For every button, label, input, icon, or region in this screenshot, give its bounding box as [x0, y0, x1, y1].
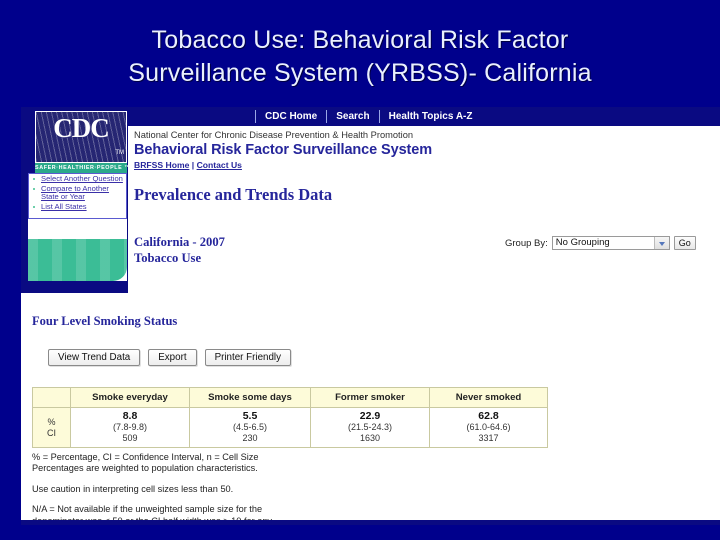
column-header-smoke-everyday: Smoke everyday	[71, 388, 190, 408]
go-button[interactable]: Go	[674, 236, 696, 250]
group-by-label: Group By:	[505, 238, 548, 249]
cell-percent: 5.5	[190, 411, 310, 422]
sidebar-item-select-another-question[interactable]: Select Another Question	[32, 175, 126, 184]
cdc-top-navbar-items: CDC Home Search Health Topics A-Z	[255, 107, 482, 126]
nav-item-cdc-home[interactable]: CDC Home	[255, 110, 326, 123]
bullet-icon	[32, 177, 36, 181]
green-band-stripes	[28, 239, 127, 281]
cdc-tagline-bar: SAFER·HEALTHIER·PEOPLE ™	[35, 163, 127, 173]
cell-sample-size: 230	[190, 433, 310, 444]
slide-title-line-2: Surveillance System (YRBSS)- California	[0, 57, 720, 90]
table-corner-cell	[33, 388, 71, 408]
cell-sample-size: 3317	[430, 433, 547, 444]
sidebar-blue-backing-right	[127, 126, 128, 293]
cell-never-smoked: 62.8 (61.0-64.6) 3317	[430, 408, 548, 448]
table-row: % CI 8.8 (7.8-9.8) 509 5.5 (4.5-6.5) 230	[33, 408, 548, 448]
page-header: National Center for Chronic Disease Prev…	[134, 129, 432, 172]
slide-title-line-1: Tobacco Use: Behavioral Risk Factor	[0, 24, 720, 57]
action-button-row: View Trend Data Export Printer Friendly	[48, 349, 291, 366]
footnote-line-3: Use caution in interpreting cell sizes l…	[32, 484, 233, 494]
trademark-icon: TM	[115, 150, 124, 156]
cell-smoke-some-days: 5.5 (4.5-6.5) 230	[190, 408, 311, 448]
footnote-line-1: % = Percentage, CI = Confidence Interval…	[32, 452, 259, 462]
cdc-logo-wordmark: CDC	[36, 113, 126, 144]
group-by-control: Group By: No Grouping Go	[505, 236, 696, 250]
header-links: BRFSS Home | Contact Us	[134, 159, 432, 172]
cell-sample-size: 509	[71, 433, 189, 444]
sidebar-item-list-all-states[interactable]: List All States	[32, 203, 126, 212]
nav-item-search[interactable]: Search	[326, 110, 378, 123]
state-year-label: California - 2007	[134, 234, 225, 250]
export-button[interactable]: Export	[148, 349, 196, 366]
group-by-selected-value: No Grouping	[556, 237, 610, 248]
footnote-line-2: Percentages are weighted to population c…	[32, 463, 258, 473]
agency-name: National Center for Chronic Disease Prev…	[134, 129, 432, 141]
topic-label: Tobacco Use	[134, 250, 225, 266]
cell-confidence-interval: (21.5-24.3)	[311, 422, 429, 433]
row-header-ci-symbol: CI	[33, 428, 70, 439]
column-header-never-smoked: Never smoked	[430, 388, 548, 408]
sidebar-item-label: List All States	[41, 203, 126, 212]
slide-canvas: Tobacco Use: Behavioral Risk Factor Surv…	[0, 0, 720, 540]
cell-former-smoker: 22.9 (21.5-24.3) 1630	[311, 408, 430, 448]
bullet-icon	[32, 187, 36, 191]
cell-confidence-interval: (4.5-6.5)	[190, 422, 310, 433]
sidebar-blue-backing-left	[21, 173, 28, 293]
cell-percent: 8.8	[71, 411, 189, 422]
cell-percent: 62.8	[430, 411, 547, 422]
footnote-line-4: N/A = Not available if the unweighted sa…	[32, 504, 262, 514]
link-contact-us[interactable]: Contact Us	[197, 160, 242, 170]
cell-confidence-interval: (7.8-9.8)	[71, 422, 189, 433]
printer-friendly-button[interactable]: Printer Friendly	[205, 349, 291, 366]
cell-percent: 22.9	[311, 411, 429, 422]
sidebar-nav-box: Select Another Question Compare to Anoth…	[28, 173, 127, 219]
cdc-logo-icon[interactable]: CDC TM	[35, 111, 127, 163]
cdc-tagline-text: SAFER·HEALTHIER·PEOPLE ™	[35, 163, 127, 173]
link-separator: |	[189, 160, 196, 170]
system-title: Behavioral Risk Factor Surveillance Syst…	[134, 141, 432, 159]
page-bottom-strip	[21, 520, 720, 525]
sidebar-item-label: Compare to Another State or Year	[41, 185, 126, 202]
state-year-topic: California - 2007 Tobacco Use	[134, 234, 225, 266]
table-header-row: Smoke everyday Smoke some days Former sm…	[33, 388, 548, 408]
cell-confidence-interval: (61.0-64.6)	[430, 422, 547, 433]
group-by-select[interactable]: No Grouping	[552, 236, 670, 250]
row-header-percent-ci: % CI	[33, 408, 71, 448]
table-footnotes: % = Percentage, CI = Confidence Interval…	[32, 452, 462, 525]
view-trend-data-button[interactable]: View Trend Data	[48, 349, 140, 366]
sidebar-blue-backing-bottom	[21, 281, 128, 293]
footnote-caution: Use caution in interpreting cell sizes l…	[32, 484, 462, 495]
sidebar-item-compare-to-another-state-or-year[interactable]: Compare to Another State or Year	[32, 185, 126, 202]
nav-item-health-topics[interactable]: Health Topics A-Z	[379, 110, 482, 123]
results-table: Smoke everyday Smoke some days Former sm…	[32, 387, 548, 448]
footnote-definitions: % = Percentage, CI = Confidence Interval…	[32, 452, 462, 475]
cell-sample-size: 1630	[311, 433, 429, 444]
chevron-down-icon[interactable]	[654, 237, 669, 249]
sidebar-green-band	[28, 239, 127, 281]
slide-title: Tobacco Use: Behavioral Risk Factor Surv…	[0, 24, 720, 90]
link-brfss-home[interactable]: BRFSS Home	[134, 160, 189, 170]
column-header-former-smoker: Former smoker	[311, 388, 430, 408]
page-title: Prevalence and Trends Data	[134, 185, 332, 205]
column-header-smoke-some-days: Smoke some days	[190, 388, 311, 408]
cell-smoke-everyday: 8.8 (7.8-9.8) 509	[71, 408, 190, 448]
brfss-page-panel: CDC Home Search Health Topics A-Z CDC TM…	[21, 107, 720, 525]
sidebar-item-label: Select Another Question	[41, 175, 126, 184]
bullet-icon	[32, 205, 36, 209]
section-title: Four Level Smoking Status	[32, 314, 177, 329]
row-header-percent-symbol: %	[33, 417, 70, 428]
